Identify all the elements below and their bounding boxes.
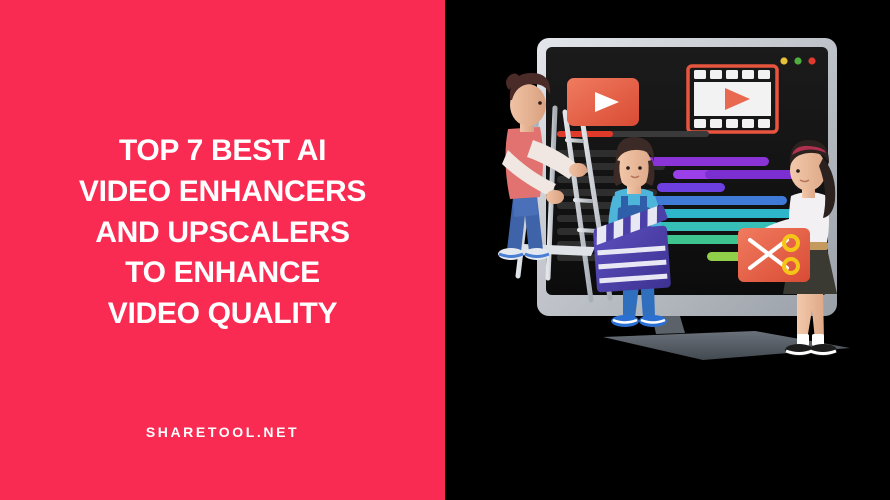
clip-purple-1 <box>641 157 769 166</box>
banner-root: TOP 7 BEST AI VIDEO ENHANCERS AND UPSCAL… <box>0 0 890 500</box>
left-text-panel: TOP 7 BEST AI VIDEO ENHANCERS AND UPSCAL… <box>0 0 445 500</box>
film-strip-play-icon <box>688 66 777 132</box>
video-editing-illustration <box>445 0 890 500</box>
headline-line-3: AND UPSCALERS <box>18 213 427 254</box>
clip-indigo-1 <box>657 183 725 192</box>
dot-yellow-icon <box>780 57 787 64</box>
right-illustration-panel <box>445 0 890 500</box>
headline-line-5: VIDEO QUALITY <box>18 294 427 335</box>
page-title: TOP 7 BEST AI VIDEO ENHANCERS AND UPSCAL… <box>0 131 445 335</box>
site-url-label: SHARETOOL.NET <box>0 424 445 440</box>
dot-red-icon <box>808 57 815 64</box>
scissors-card <box>738 228 810 282</box>
play-button-card <box>567 78 639 126</box>
red-progress-bar <box>557 131 709 137</box>
clip-blue-1 <box>635 196 787 205</box>
headline-line-4: TO ENHANCE <box>18 253 427 294</box>
dot-green-icon <box>794 57 801 64</box>
window-control-dots <box>780 57 815 64</box>
headline-line-1: TOP 7 BEST AI <box>18 131 427 172</box>
headline-line-2: VIDEO ENHANCERS <box>18 172 427 213</box>
